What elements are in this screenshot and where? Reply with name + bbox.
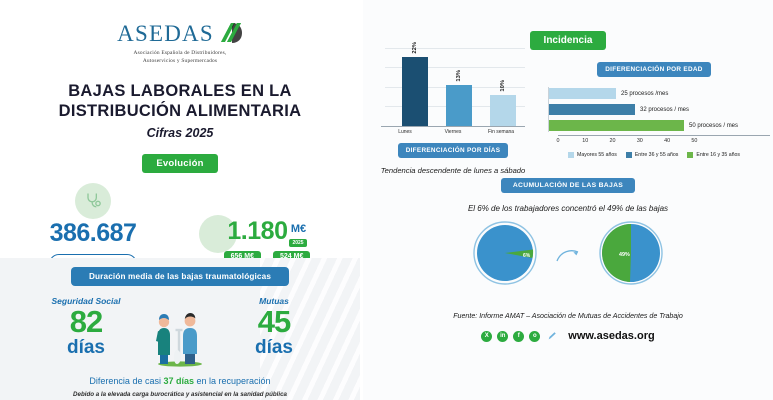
economic-unit: M€: [291, 223, 306, 235]
legend-label: Mayores 55 años: [577, 152, 617, 158]
page-title-line2: DISTRIBUCIÓN ALIMENTARIA: [0, 101, 360, 121]
days-bar-value: 13%: [456, 70, 462, 82]
days-axis: [381, 126, 525, 127]
duration-mutuas: Mutuas 45 días: [222, 296, 326, 357]
duration-ss-unit: días: [34, 338, 138, 357]
days-bar-rect: [490, 95, 516, 126]
processes-value: 386.687: [6, 221, 180, 246]
arrow-icon: [555, 247, 581, 265]
page-title-line1: BAJAS LABORALES EN LA: [0, 81, 360, 101]
duration-mutuas-number: 45: [222, 306, 326, 338]
age-bar-rect: [548, 104, 635, 115]
chart-diferenciacion-por-dias: 22%13%10% LunesViernesFin semana DIFEREN…: [373, 48, 533, 175]
age-axis-tick: 10: [582, 138, 588, 144]
website-link[interactable]: www.asedas.org: [568, 330, 654, 342]
age-axis-tick: 50: [691, 138, 697, 144]
duration-mutuas-unit: días: [222, 338, 326, 357]
days-category-label: Fin semana: [487, 129, 515, 135]
age-chart-title: DIFERENCIACIÓN POR EDAD: [597, 62, 710, 77]
economic-value: 1.180: [227, 219, 287, 244]
instagram-icon[interactable]: o: [529, 331, 540, 342]
brand-logo: ASEDAS Asociación Española de Distribuid…: [0, 0, 360, 66]
linkedin-icon[interactable]: in: [497, 331, 508, 342]
age-axis-tick: 20: [610, 138, 616, 144]
pie-charts-row: 6% 49%: [363, 221, 773, 290]
acumulacion-sentence: El 6% de los trabajadores concentró el 4…: [363, 204, 773, 213]
days-bar: 13%: [445, 85, 473, 126]
age-bar-value: 32 procesos / mes: [640, 107, 689, 113]
age-bar-row: 50 procesos / mes: [548, 119, 770, 132]
economic-year-badge: 2025: [289, 239, 306, 247]
duration-footer-highlight: 37 días: [163, 376, 194, 386]
section-badge-incidencia: Incidencia: [530, 31, 607, 50]
legend-label: Entre 36 y 55 años: [635, 152, 679, 158]
page-subtitle: Cifras 2025: [0, 126, 360, 140]
page-title: BAJAS LABORALES EN LA DISTRIBUCIÓN ALIME…: [0, 81, 360, 121]
days-category-label: Viernes: [439, 129, 467, 135]
legend-swatch: [626, 152, 632, 158]
right-panel: Incidencia 22%13%10% LunesViernesFin sem…: [360, 0, 773, 400]
age-chart-legend: Mayores 55 añosEntre 36 y 55 añosEntre 1…: [538, 152, 770, 158]
logo-subtitle-line1: Asociación Española de Distribuidores,: [0, 49, 360, 57]
age-bar-value: 50 procesos / mes: [689, 123, 738, 129]
legend-item: Entre 36 y 55 años: [626, 152, 679, 158]
twitter-x-icon[interactable]: X: [481, 331, 492, 342]
pie-chart-bajas: 49%: [599, 221, 663, 290]
duration-header: Duración media de las bajas traumatológi…: [71, 267, 289, 286]
pie-small-label: 6%: [523, 253, 531, 259]
asedas-logo-icon: [219, 22, 243, 44]
social-links-row: X in f o www.asedas.org: [363, 330, 773, 342]
age-axis-tick: 0: [557, 138, 560, 144]
social-letter: f: [518, 333, 520, 339]
days-bar-rect: [446, 85, 472, 126]
age-bar-rect: [548, 120, 684, 131]
days-chart-plot: 22%13%10%: [385, 48, 533, 126]
legend-item: Entre 16 y 35 años: [687, 152, 740, 158]
duration-footer: Diferencia de casi 37 días en la recuper…: [0, 376, 360, 386]
duration-footer-suffix: en la recuperación: [194, 376, 271, 386]
duration-footer-prefix: Diferencia de casi: [89, 376, 163, 386]
age-bar-row: 32 procesos / mes: [548, 103, 770, 116]
social-letter: in: [500, 333, 505, 339]
duration-footnote: Debido a la elevada carga burocrática y …: [0, 391, 360, 398]
age-chart-plot: 25 procesos /mes32 procesos / mes50 proc…: [538, 87, 770, 146]
days-bar-value: 10%: [500, 80, 506, 92]
age-bar-rect: [548, 88, 616, 99]
acumulacion-section: ACUMULACIÓN DE LAS BAJAS El 6% de los tr…: [363, 178, 773, 290]
legend-item: Mayores 55 años: [568, 152, 617, 158]
legend-label: Entre 16 y 35 años: [696, 152, 740, 158]
age-bar-value: 25 procesos /mes: [621, 91, 668, 97]
days-bar: 10%: [489, 95, 517, 126]
legend-swatch: [687, 152, 693, 158]
social-letter: X: [485, 333, 489, 339]
pie-chart-trabajadores: 6%: [473, 221, 537, 290]
pen-icon: [547, 331, 557, 341]
duration-card: Duración media de las bajas traumatológi…: [0, 258, 360, 400]
age-bar-row: 25 procesos /mes: [548, 87, 770, 100]
section-badge-evolucion: Evolución: [142, 154, 217, 173]
legend-swatch: [568, 152, 574, 158]
age-axis-tick: 30: [637, 138, 643, 144]
days-category-labels: LunesViernesFin semana: [381, 129, 525, 135]
days-bar-value: 22%: [412, 42, 418, 54]
days-category-label: Lunes: [391, 129, 419, 135]
days-bar: 22%: [401, 57, 429, 126]
duration-ss-number: 82: [34, 306, 138, 338]
acumulacion-title: ACUMULACIÓN DE LAS BAJAS: [501, 178, 635, 193]
chart-diferenciacion-por-edad: DIFERENCIACIÓN POR EDAD 25 procesos /mes…: [538, 62, 770, 158]
pie-large-label: 49%: [619, 252, 630, 258]
patient-nurse-illustration: [148, 298, 212, 368]
days-chart-note: Tendencia descendente de lunes a sábado: [373, 166, 533, 175]
logo-wordmark: ASEDAS: [117, 22, 214, 45]
days-bars: 22%13%10%: [393, 48, 525, 126]
days-chart-title: DIFERENCIACIÓN POR DÍAS: [398, 143, 509, 158]
duration-social-security: Seguridad Social 82 días: [34, 296, 138, 357]
age-axis-tick: 40: [664, 138, 670, 144]
facebook-icon[interactable]: f: [513, 331, 524, 342]
social-letter: o: [533, 333, 537, 339]
infographic-root: ASEDAS Asociación Española de Distribuid…: [0, 0, 773, 400]
stethoscope-icon: [75, 183, 111, 219]
age-axis-ticks: 01020304050: [558, 136, 770, 146]
source-note: Fuente: Informe AMAT – Asociación de Mut…: [363, 312, 773, 320]
days-bar-rect: [402, 57, 428, 126]
duration-body: Seguridad Social 82 días: [0, 296, 360, 368]
logo-subtitle-line2: Autoservicios y Supermercados: [0, 57, 360, 65]
logo-subtitle: Asociación Española de Distribuidores, A…: [0, 49, 360, 66]
left-panel: ASEDAS Asociación Española de Distribuid…: [0, 0, 360, 400]
